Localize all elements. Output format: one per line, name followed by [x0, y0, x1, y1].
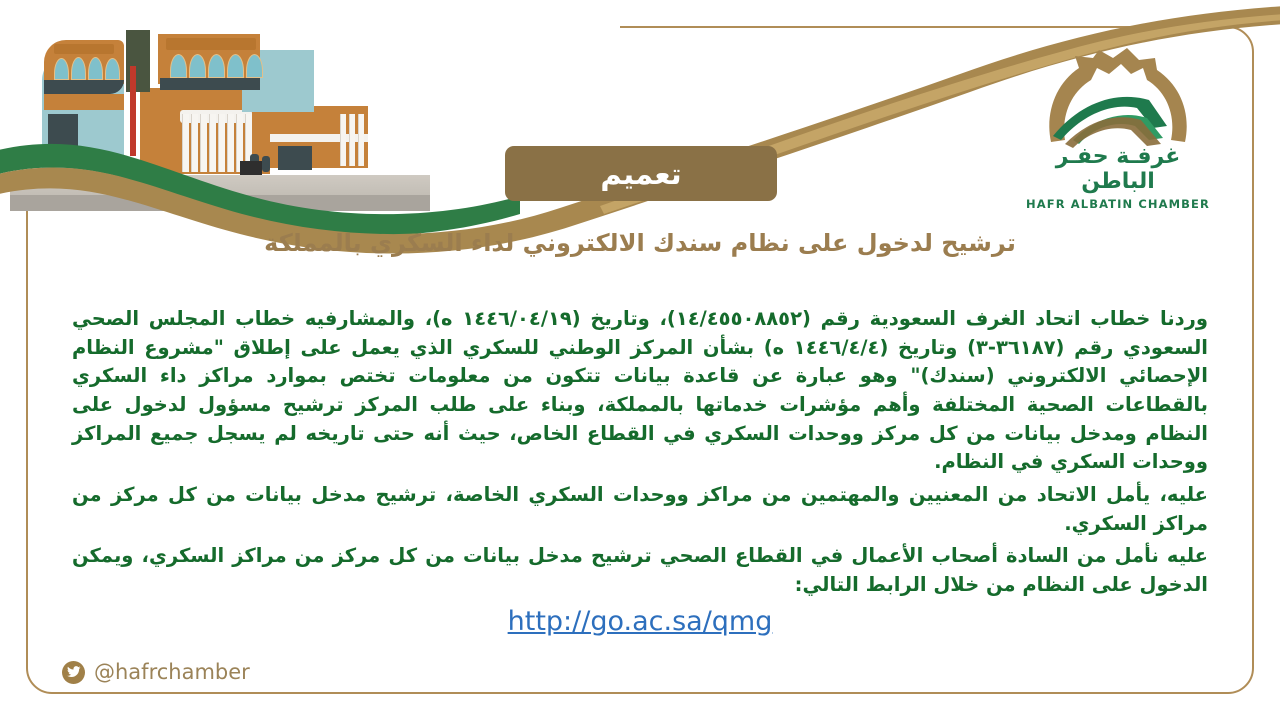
twitter-handle-group[interactable]: @hafrchamber [62, 660, 250, 684]
chamber-logo: غرفـة حفـر الباطن HAFR ALBATIN CHAMBER [1018, 44, 1218, 204]
system-link-container: http://go.ac.sa/qmg [72, 602, 1208, 642]
logo-english-name: HAFR ALBATIN CHAMBER [1018, 197, 1218, 211]
system-link[interactable]: http://go.ac.sa/qmg [508, 606, 773, 637]
twitter-handle-text: @hafrchamber [94, 660, 250, 684]
flyer-page: غرفـة حفـر الباطن HAFR ALBATIN CHAMBER ت… [0, 0, 1280, 720]
circular-badge: تعميم [505, 146, 777, 201]
paragraph-2: عليه، يأمل الاتحاد من المعنيين والمهتمين… [72, 481, 1208, 538]
logo-arabic-name: غرفـة حفـر الباطن [1018, 144, 1218, 194]
announcement-body: وردنا خطاب اتحاد الغرف السعودية رقم (١٤/… [72, 305, 1208, 641]
circular-badge-label: تعميم [600, 157, 681, 191]
chamber-logo-mark [1029, 44, 1207, 148]
paragraph-1: وردنا خطاب اتحاد الغرف السعودية رقم (١٤/… [72, 305, 1208, 477]
chamber-building-photo [10, 6, 430, 211]
paragraph-3: عليه نأمل من السادة أصحاب الأعمال في الق… [72, 542, 1208, 599]
page-title: ترشيح لدخول على نظام سندك الالكتروني لدا… [90, 228, 1190, 259]
twitter-bird-icon [62, 661, 85, 684]
